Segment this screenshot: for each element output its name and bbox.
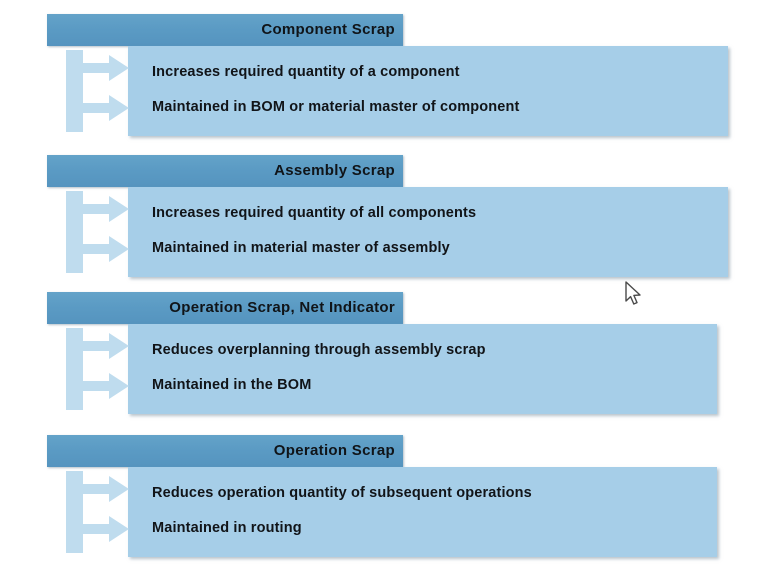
branch-arrows-icon: [66, 328, 150, 410]
branch-arrows-icon: [66, 50, 150, 132]
section-header-bar: Operation Scrap, Net Indicator: [47, 292, 403, 324]
section-body-panel: Reduces overplanning through assembly sc…: [128, 324, 717, 414]
section-bullet-text: Maintained in routing: [152, 520, 302, 536]
section-bullet-text: Maintained in BOM or material master of …: [152, 99, 520, 115]
section-bullet-text: Increases required quantity of a compone…: [152, 64, 460, 80]
section-bullet-text: Increases required quantity of all compo…: [152, 205, 476, 221]
section-header-bar: Component Scrap: [47, 14, 403, 46]
section-header-title: Operation Scrap: [274, 435, 395, 467]
scrap-types-diagram: Component Scrap Increases required quant…: [0, 0, 772, 566]
section-body-panel: Increases required quantity of all compo…: [128, 187, 728, 277]
section-bullet-text: Reduces overplanning through assembly sc…: [152, 342, 486, 358]
section-bullet-text: Maintained in material master of assembl…: [152, 240, 450, 256]
branch-arrows-icon: [66, 471, 150, 553]
section-header-bar: Assembly Scrap: [47, 155, 403, 187]
section-header-title: Assembly Scrap: [274, 155, 395, 187]
section-body-panel: Increases required quantity of a compone…: [128, 46, 728, 136]
section-body-panel: Reduces operation quantity of subsequent…: [128, 467, 717, 557]
section-bullet-text: Maintained in the BOM: [152, 377, 311, 393]
branch-arrows-icon: [66, 191, 150, 273]
section-header-title: Operation Scrap, Net Indicator: [169, 292, 395, 324]
section-bullet-text: Reduces operation quantity of subsequent…: [152, 485, 532, 501]
section-header-title: Component Scrap: [261, 14, 395, 46]
arrow-pointer-icon: [624, 281, 644, 309]
section-header-bar: Operation Scrap: [47, 435, 403, 467]
